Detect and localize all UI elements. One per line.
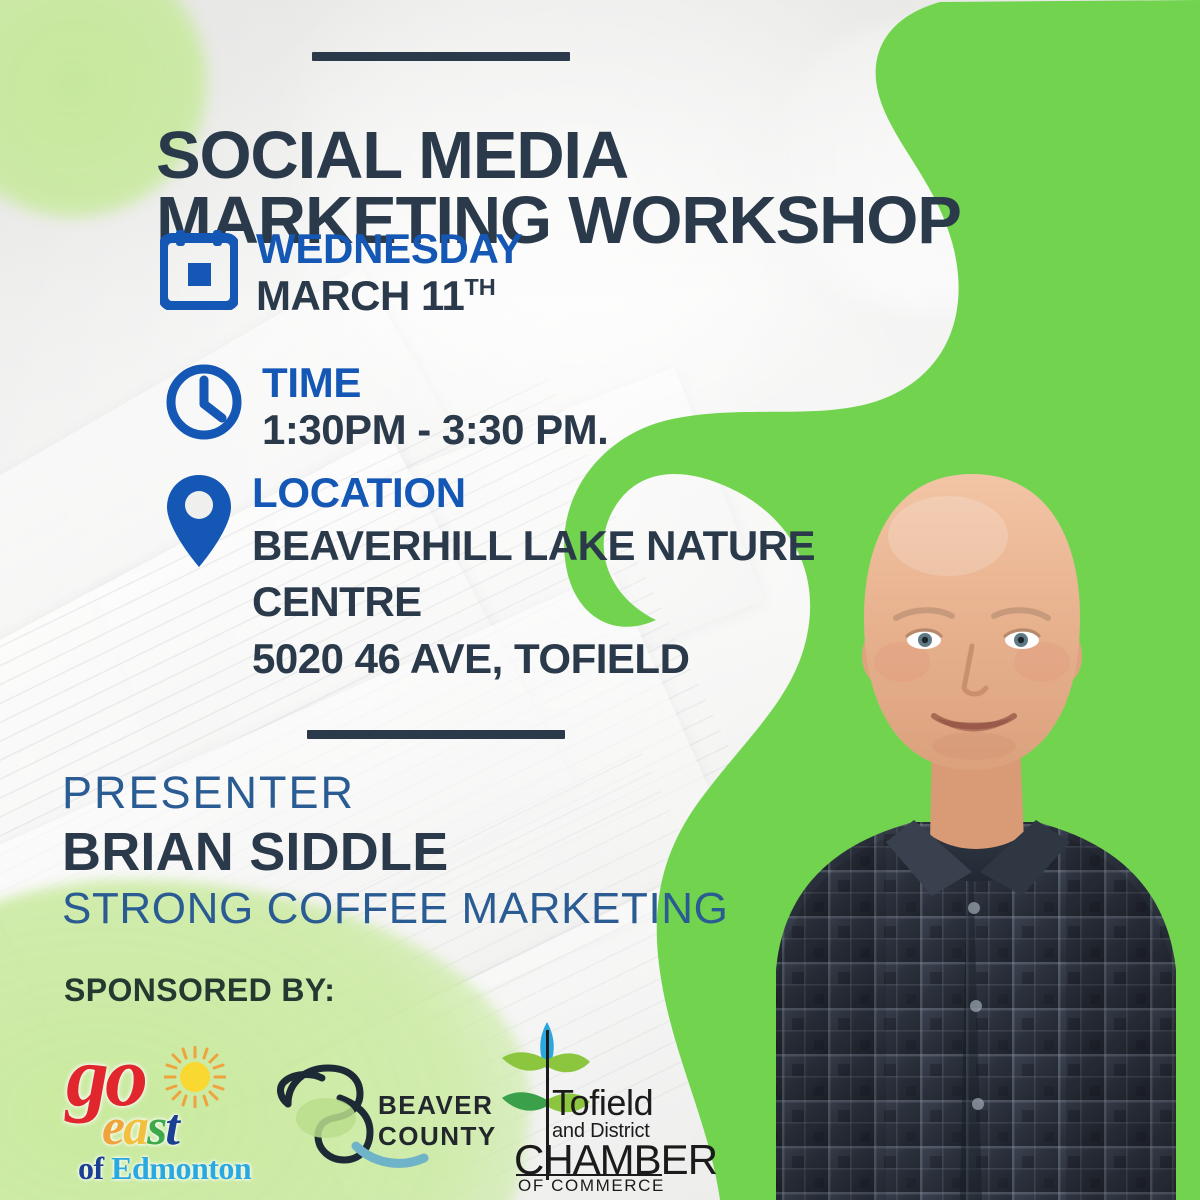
location-value: BEAVERHILL LAKE NATURE CENTRE 5020 46 AV… [252,518,815,687]
presenter-photo [736,410,1200,1200]
beaver-county-logo: BEAVER COUNTY [270,1042,480,1192]
event-poster: SOCIAL MEDIA MARKETING WORKSHOP WEDNESDA… [0,0,1200,1200]
go-east-letter-s: s [147,1099,165,1156]
beaver-county-wordmark: BEAVER COUNTY [378,1090,497,1151]
go-east-word-edmonton: Edmonton [111,1150,251,1186]
go-east-word-east: east [102,1098,178,1157]
time-label: TIME [262,362,608,404]
location-label: LOCATION [252,472,815,514]
go-east-of-edmonton-logo: go [60,1024,260,1192]
calendar-icon [160,228,238,315]
presenter-label: PRESENTER [62,768,729,818]
date-value: MARCH 11TH [256,274,522,319]
go-east-tagline: of Edmonton [78,1150,251,1187]
go-east-letter-t: t [165,1099,177,1156]
beaver-county-line-1: BEAVER [378,1090,497,1121]
date-value-text: MARCH 11 [256,272,464,319]
mid-divider-rule [307,730,565,739]
date-label: WEDNESDAY [256,228,522,270]
time-value: 1:30PM - 3:30 PM. [262,408,608,453]
presenter-name: BRIAN SIDDLE [62,822,729,882]
chamber-commerce-text: OF COMMERCE [518,1176,665,1196]
beaver-county-line-2: COUNTY [378,1121,497,1152]
date-text: WEDNESDAY MARCH 11TH [256,228,522,319]
go-east-letter-a: a [123,1099,147,1156]
tofield-chamber-logo: Tofield and District CHAMBER OF COMMERCE [490,1016,666,1192]
presenter-company: STRONG COFFEE MARKETING [62,884,729,933]
sponsor-logos: go [60,1016,666,1192]
presenter-block: PRESENTER BRIAN SIDDLE STRONG COFFEE MAR… [62,768,729,933]
location-row: LOCATION BEAVERHILL LAKE NATURE CENTRE 5… [164,472,815,687]
location-line-3: 5020 46 AVE, TOFIELD [252,631,815,687]
headline-line-1: SOCIAL MEDIA [156,118,628,193]
go-east-word-of: of [78,1150,111,1186]
clock-icon [164,362,244,447]
date-row: WEDNESDAY MARCH 11TH [160,228,522,319]
time-text: TIME 1:30PM - 3:30 PM. [262,362,608,453]
time-row: TIME 1:30PM - 3:30 PM. [164,362,608,453]
date-value-ordinal: TH [464,274,495,300]
go-east-letter-e: e [102,1099,123,1156]
chamber-tofield-text: Tofield [552,1082,653,1124]
location-text: LOCATION BEAVERHILL LAKE NATURE CENTRE 5… [252,472,815,687]
location-line-2: CENTRE [252,574,815,630]
map-pin-icon [164,472,234,575]
location-line-1: BEAVERHILL LAKE NATURE [252,518,815,574]
sponsored-by-heading: SPONSORED BY: [64,972,335,1009]
top-divider-rule [312,52,570,61]
